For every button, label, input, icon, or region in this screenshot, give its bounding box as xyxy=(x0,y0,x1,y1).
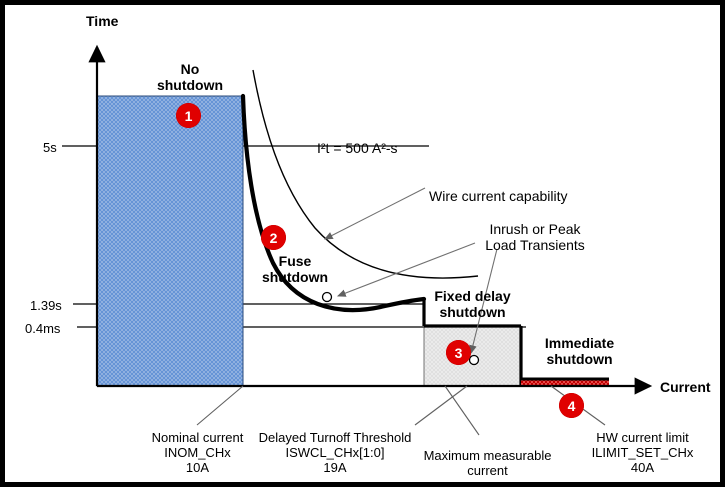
annotation-inrush-line2: Load Transients xyxy=(475,237,595,253)
annotation-inrush-line1: Inrush or Peak xyxy=(475,221,595,237)
callout-hwlimit-line3: 40A xyxy=(570,461,715,476)
callout-maxmeas-line1: Maximum measurable xyxy=(405,449,570,464)
label-no-shutdown: No shutdown xyxy=(135,61,245,93)
annotation-wire-capability: Wire current capability xyxy=(429,188,568,204)
callout-delayed-line2: ISWCL_CHx[1:0] xyxy=(250,446,420,461)
callout-nominal-line1: Nominal current xyxy=(125,431,270,446)
label-immediate-line2: shutdown xyxy=(527,351,632,367)
callout-maximum-measurable-current: Maximum measurable current xyxy=(405,449,570,479)
region-no-shutdown xyxy=(97,96,243,386)
callout-hw-current-limit: HW current limit ILIMIT_SET_CHx 40A xyxy=(570,431,715,476)
label-fixed-delay-line2: shutdown xyxy=(415,304,530,320)
label-no-shutdown-line1: No xyxy=(135,61,245,77)
callout-leader-nominal xyxy=(197,386,243,425)
label-fixed-delay-line1: Fixed delay xyxy=(415,288,530,304)
callout-delayed-line1: Delayed Turnoff Threshold xyxy=(250,431,420,446)
label-fixed-delay-shutdown: Fixed delay shutdown xyxy=(415,288,530,320)
y-tick-label-0p4ms: 0.4ms xyxy=(25,322,60,337)
annotation-inrush: Inrush or Peak Load Transients xyxy=(475,221,595,253)
marker-fuse-operating-point xyxy=(323,293,332,302)
callout-delayed-turnoff-threshold: Delayed Turnoff Threshold ISWCL_CHx[1:0]… xyxy=(250,431,420,476)
axis-title-current: Current xyxy=(660,379,711,395)
callout-leader-maxmeas xyxy=(445,386,479,435)
y-tick-label-1p39s: 1.39s xyxy=(30,299,62,314)
callout-hwlimit-line2: ILIMIT_SET_CHx xyxy=(570,446,715,461)
diagram-canvas: Time Current 5s 1.39s 0.4ms No shutdown … xyxy=(0,0,725,487)
axis-title-time: Time xyxy=(86,13,118,29)
callout-nominal-current: Nominal current INOM_CHx 10A xyxy=(125,431,270,476)
leader-wire-capability xyxy=(325,188,425,239)
annotation-i2t: I²t = 500 A²-s xyxy=(317,140,398,156)
badge-3[interactable]: 3 xyxy=(446,340,471,365)
badge-2[interactable]: 2 xyxy=(261,225,286,250)
y-tick-label-5s: 5s xyxy=(43,141,57,156)
label-no-shutdown-line2: shutdown xyxy=(135,77,245,93)
label-immediate-shutdown: Immediate shutdown xyxy=(527,335,632,367)
label-fuse-shutdown-line2: shutdown xyxy=(250,269,340,285)
marker-inrush-operating-point xyxy=(470,356,479,365)
curve-wire-current-capability xyxy=(253,70,478,278)
label-immediate-line1: Immediate xyxy=(527,335,632,351)
callout-nominal-line2: INOM_CHx xyxy=(125,446,270,461)
callout-nominal-line3: 10A xyxy=(125,461,270,476)
diagram-graphics xyxy=(5,5,720,482)
badge-4[interactable]: 4 xyxy=(559,393,584,418)
callout-maxmeas-line2: current xyxy=(405,464,570,479)
badge-1[interactable]: 1 xyxy=(176,103,201,128)
label-fuse-shutdown: Fuse shutdown xyxy=(250,253,340,285)
callout-hwlimit-line1: HW current limit xyxy=(570,431,715,446)
label-fuse-shutdown-line1: Fuse xyxy=(250,253,340,269)
callout-delayed-line3: 19A xyxy=(250,461,420,476)
